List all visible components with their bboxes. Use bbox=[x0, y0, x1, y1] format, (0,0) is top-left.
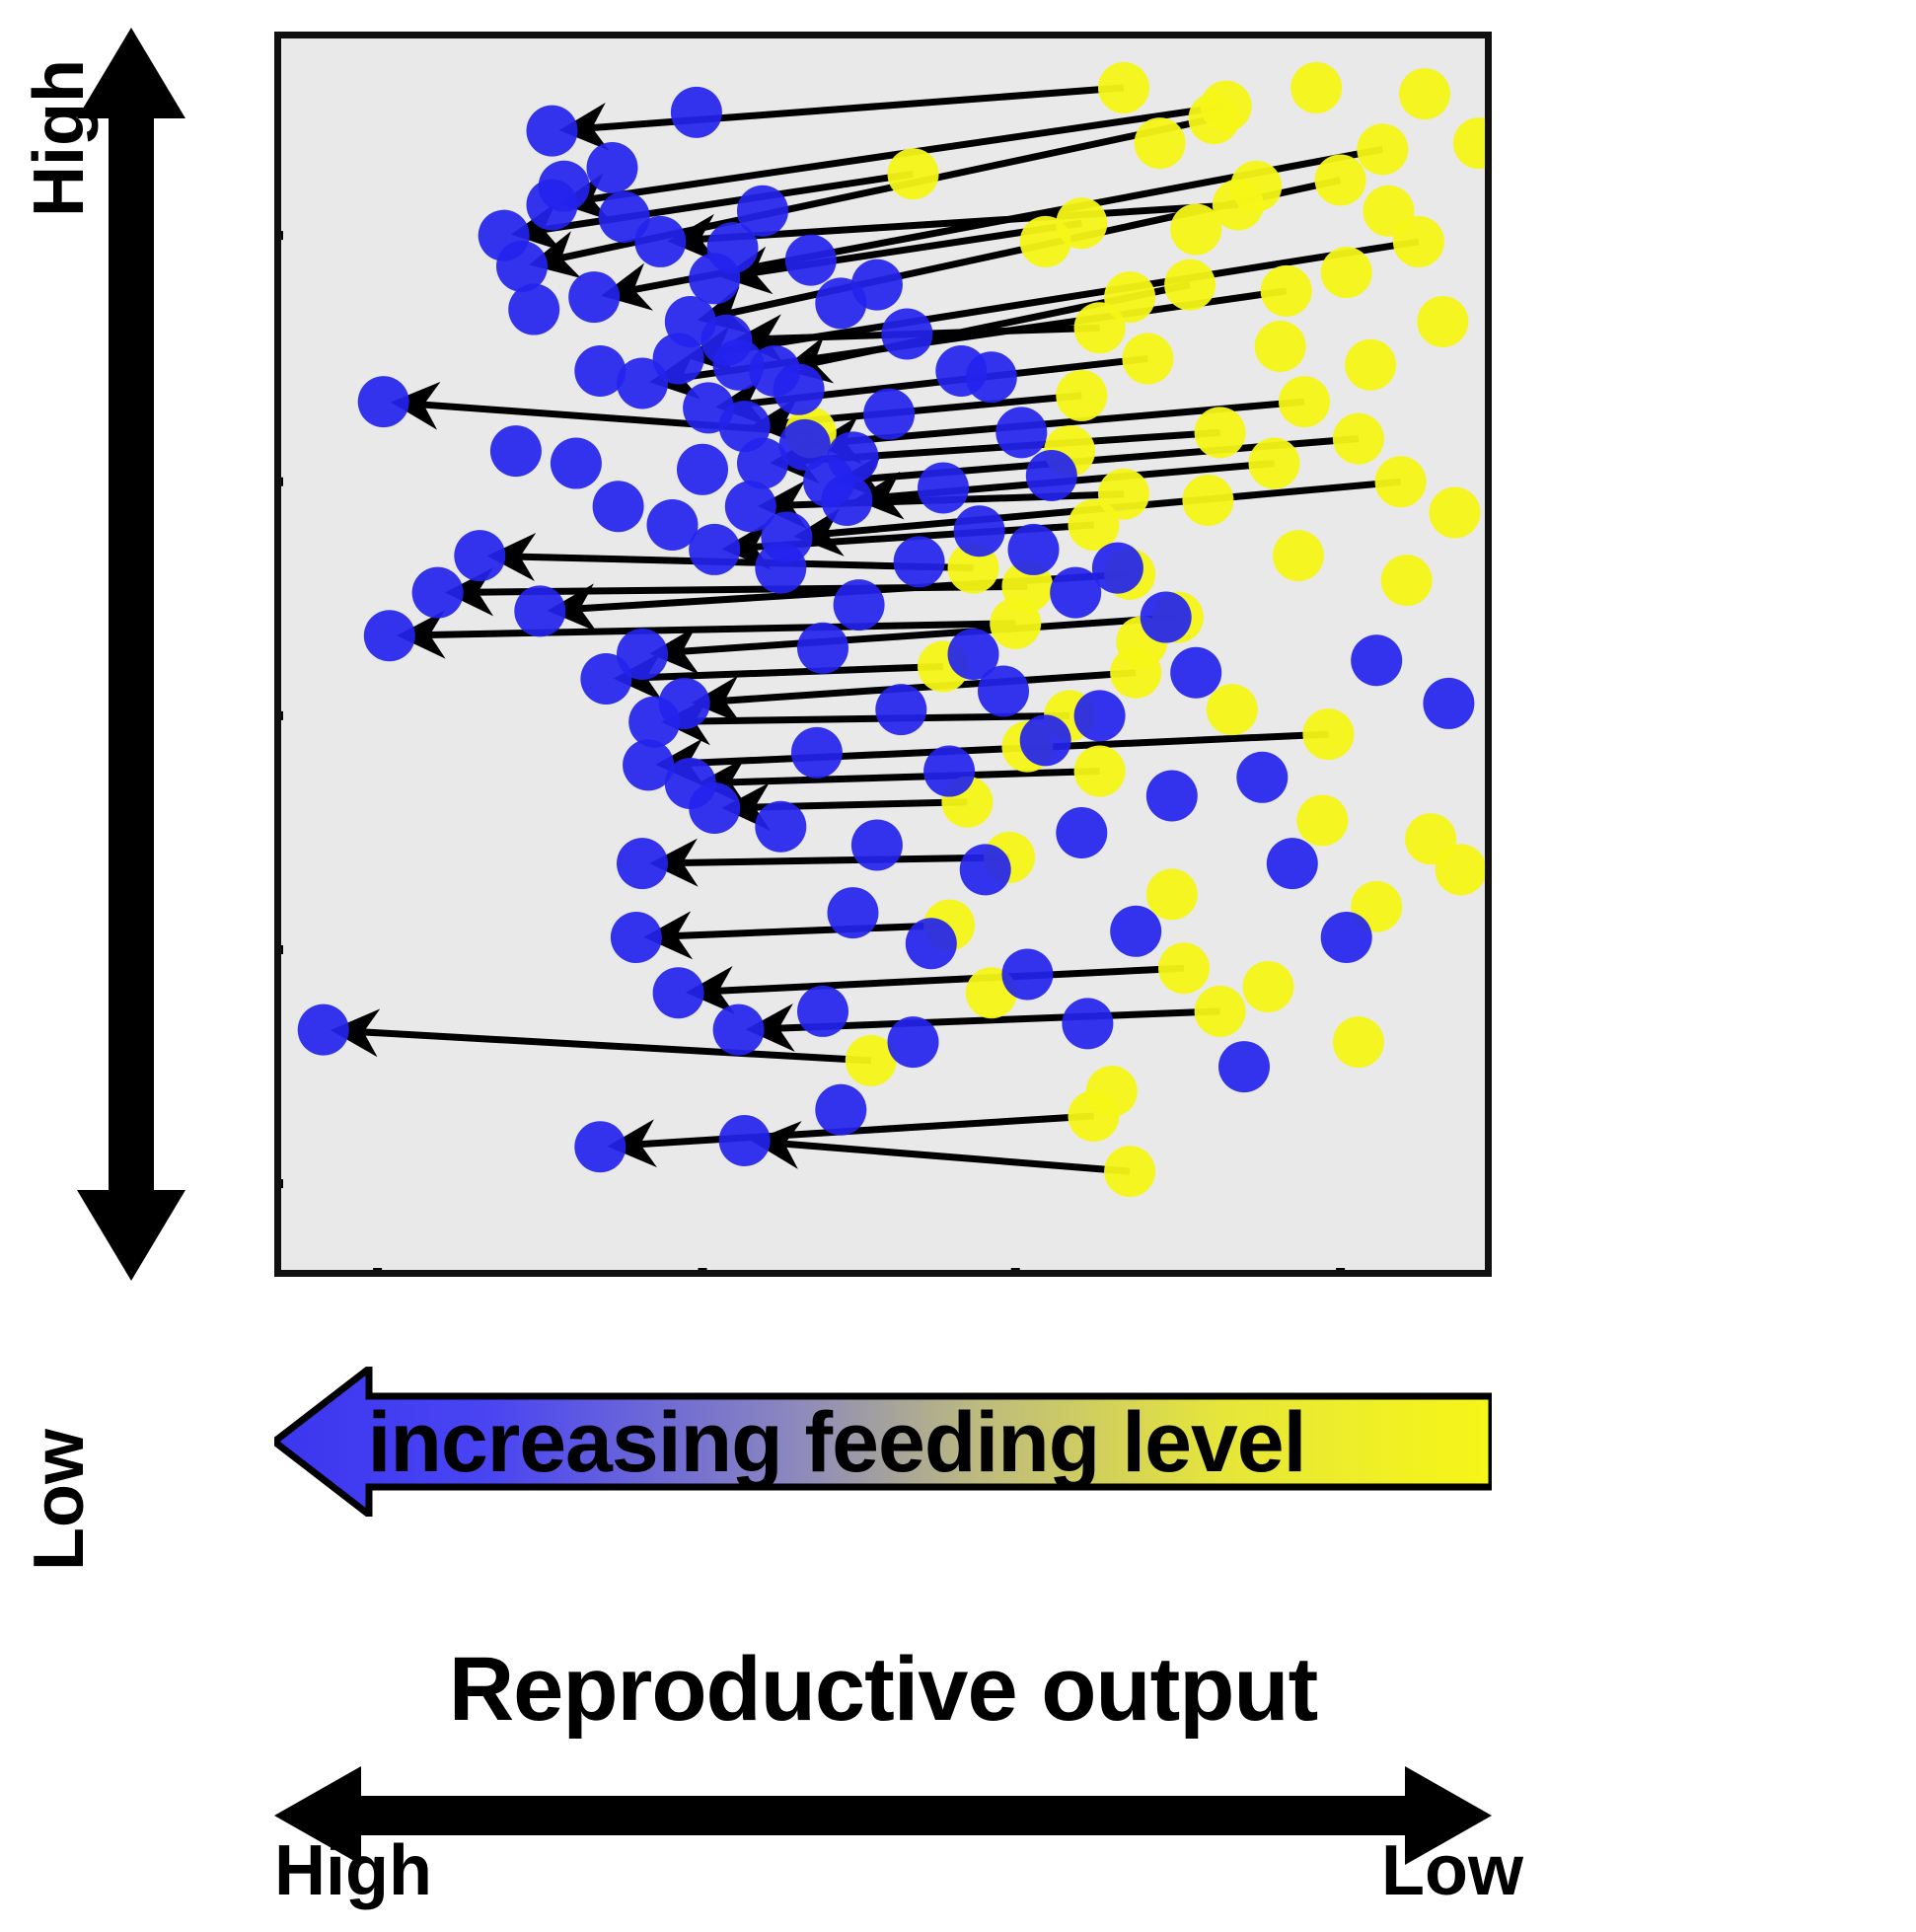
x-axis-high-label: High bbox=[274, 1830, 432, 1911]
y-axis-low-label: Low bbox=[20, 1391, 99, 1608]
y-axis-title-container: Generation turnover bbox=[174, 118, 282, 1204]
y-axis-low-label-container: Low bbox=[10, 1401, 148, 1598]
x-axis-direction-arrow bbox=[274, 1766, 1492, 1865]
x-axis-low-label: Low bbox=[1381, 1830, 1500, 1911]
scatter-plot-svg bbox=[281, 38, 1485, 1270]
x-axis-title: Reproductive output bbox=[274, 1638, 1492, 1742]
feeding-level-label: increasing feeding level bbox=[176, 1385, 1498, 1500]
y-axis-high-label-container: High bbox=[10, 39, 148, 237]
y-axis-high-label: High bbox=[20, 30, 99, 247]
plot-area bbox=[274, 32, 1492, 1277]
